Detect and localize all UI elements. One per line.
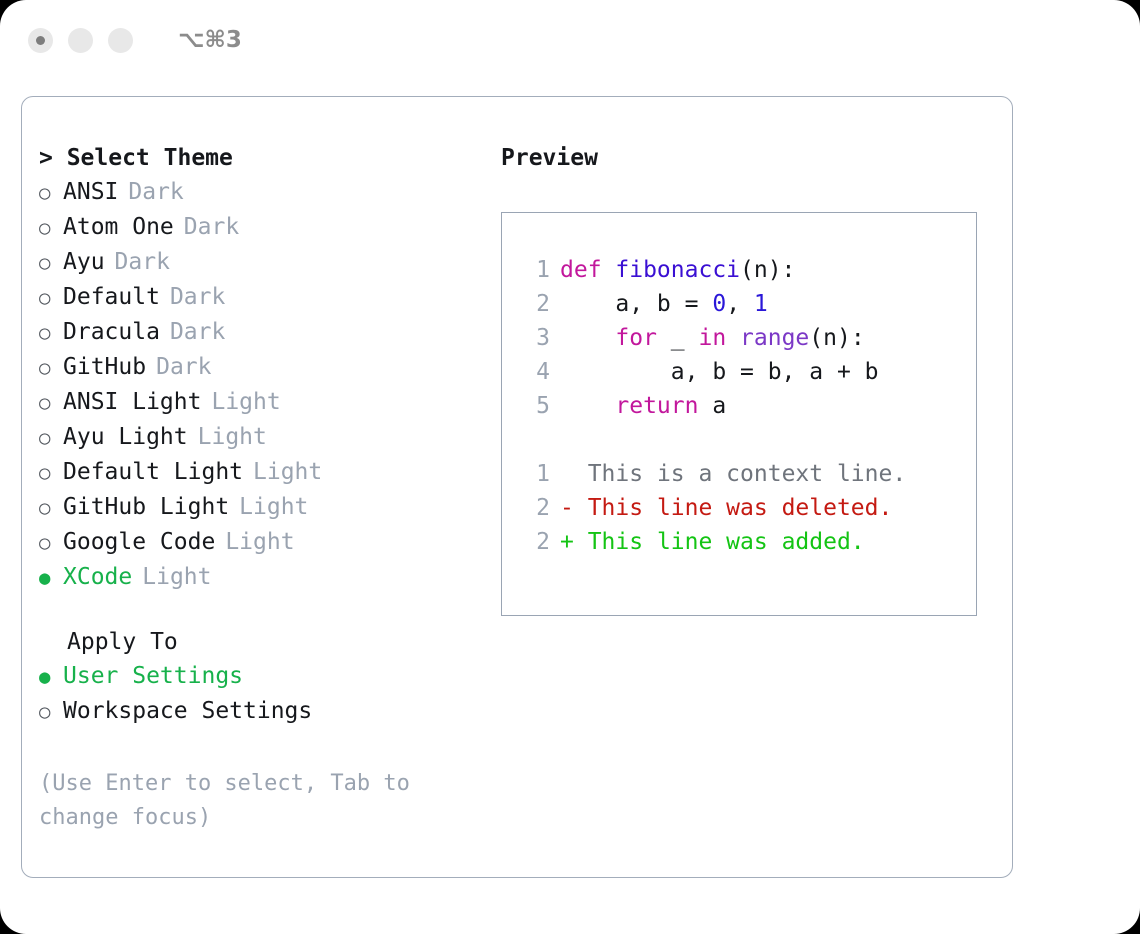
diff-text: This is a context line.: [588, 457, 907, 491]
line-number: 1: [520, 457, 550, 491]
theme-name: Atom One: [63, 210, 174, 244]
token-plain: (n):: [740, 257, 795, 283]
theme-option-ansi[interactable]: ○ANSIDark: [39, 175, 479, 210]
line-number: 4: [520, 355, 550, 389]
theme-name: GitHub Light: [63, 490, 229, 524]
theme-name: ANSI: [63, 175, 118, 209]
code-line: 3 for _ in range(n):: [520, 321, 976, 355]
code-line-content: return a: [560, 389, 726, 423]
radio-unselected-icon: ○: [39, 316, 63, 350]
code-line: 4 a, b = b, a + b: [520, 355, 976, 389]
code-line: 1def fibonacci(n):: [520, 253, 976, 287]
radio-unselected-icon: ○: [39, 281, 63, 315]
theme-name: Default: [63, 280, 160, 314]
window-dot-3-icon[interactable]: [108, 28, 133, 53]
diff-marker: -: [560, 491, 588, 525]
diff-line: 2- This line was deleted.: [520, 491, 976, 525]
radio-selected-icon: ●: [39, 561, 63, 595]
code-line-content: a, b = b, a + b: [560, 355, 879, 389]
radio-unselected-icon: ○: [39, 211, 63, 245]
diff-marker: [560, 457, 588, 491]
token-plain: [560, 325, 615, 351]
theme-name: Default Light: [63, 455, 243, 489]
line-number: 5: [520, 389, 550, 423]
theme-variant-tag: Light: [198, 420, 267, 454]
theme-variant-tag: Dark: [184, 210, 239, 244]
preview-box: 1def fibonacci(n):2 a, b = 0, 13 for _ i…: [501, 212, 977, 616]
diff-sample: 1 This is a context line.2- This line wa…: [502, 457, 976, 559]
theme-name: Ayu: [63, 245, 105, 279]
token-kw: for: [615, 325, 657, 351]
keyboard-hint-text: (Use Enter to select, Tab to change focu…: [39, 767, 439, 835]
theme-option-xcode[interactable]: ●XCodeLight: [39, 560, 479, 595]
keyboard-shortcut-label: ⌥⌘3: [178, 27, 242, 53]
theme-variant-tag: Dark: [115, 245, 170, 279]
app-window: ⌥⌘3 > Select Theme ○ANSIDark○Atom OneDar…: [0, 0, 1140, 934]
theme-option-github[interactable]: ○GitHubDark: [39, 350, 479, 385]
code-line-content: a, b = 0, 1: [560, 287, 768, 321]
theme-variant-tag: Light: [253, 455, 322, 489]
line-number: 2: [520, 287, 550, 321]
theme-variant-tag: Light: [239, 490, 308, 524]
code-line: 2 a, b = 0, 1: [520, 287, 976, 321]
theme-option-ayu-light[interactable]: ○Ayu LightLight: [39, 420, 479, 455]
line-number: 1: [520, 253, 550, 287]
radio-unselected-icon: ○: [39, 351, 63, 385]
theme-variant-tag: Dark: [128, 175, 183, 209]
theme-option-ansi-light[interactable]: ○ANSI LightLight: [39, 385, 479, 420]
theme-variant-tag: Dark: [156, 350, 211, 384]
diff-line: 1 This is a context line.: [520, 457, 976, 491]
theme-list: ○ANSIDark○Atom OneDark○AyuDark○DefaultDa…: [39, 175, 479, 595]
token-plain: [726, 325, 740, 351]
apply-to-label: User Settings: [63, 659, 243, 693]
theme-option-github-light[interactable]: ○GitHub LightLight: [39, 490, 479, 525]
token-plain: ,: [726, 291, 754, 317]
theme-name: Dracula: [63, 315, 160, 349]
apply-to-option-workspace-settings[interactable]: ○Workspace Settings: [39, 694, 479, 729]
radio-unselected-icon: ○: [39, 421, 63, 455]
radio-unselected-icon: ○: [39, 456, 63, 490]
preview-column: Preview 1def fibonacci(n):2 a, b = 0, 13…: [501, 141, 981, 616]
apply-to-option-user-settings[interactable]: ●User Settings: [39, 659, 479, 694]
token-kw: def: [560, 257, 615, 283]
diff-line: 2+ This line was added.: [520, 525, 976, 559]
theme-name: GitHub: [63, 350, 146, 384]
theme-name: Ayu Light: [63, 420, 188, 454]
token-num: 1: [754, 291, 768, 317]
titlebar: ⌥⌘3: [0, 0, 1140, 80]
diff-text: This line was added.: [588, 525, 865, 559]
token-plain: [560, 393, 615, 419]
token-builtin: range: [740, 325, 809, 351]
spacer: [39, 595, 479, 625]
radio-unselected-icon: ○: [39, 491, 63, 525]
preview-title: Preview: [501, 141, 981, 175]
diff-text: This line was deleted.: [588, 491, 893, 525]
select-theme-heading: > Select Theme: [39, 141, 479, 175]
theme-variant-tag: Dark: [170, 280, 225, 314]
theme-variant-tag: Dark: [170, 315, 225, 349]
apply-to-label: Workspace Settings: [63, 694, 312, 728]
theme-name: Google Code: [63, 525, 215, 559]
radio-unselected-icon: ○: [39, 526, 63, 560]
token-plain: a, b = b, a + b: [560, 359, 879, 385]
main-panel: > Select Theme ○ANSIDark○Atom OneDark○Ay…: [21, 96, 1013, 878]
radio-unselected-icon: ○: [39, 176, 63, 210]
code-line-content: for _ in range(n):: [560, 321, 865, 355]
theme-option-default-light[interactable]: ○Default LightLight: [39, 455, 479, 490]
code-line: 5 return a: [520, 389, 976, 423]
token-fn: fibonacci: [615, 257, 740, 283]
token-plain: a, b =: [560, 291, 712, 317]
theme-option-dracula[interactable]: ○DraculaDark: [39, 315, 479, 350]
radio-unselected-icon: ○: [39, 386, 63, 420]
radio-selected-icon: ●: [39, 660, 63, 694]
line-number: 2: [520, 491, 550, 525]
token-plain: a: [698, 393, 726, 419]
token-plain: (n):: [809, 325, 864, 351]
code-line-content: def fibonacci(n):: [560, 253, 795, 287]
window-dot-active-inner-icon: [36, 36, 45, 45]
theme-name: ANSI Light: [63, 385, 201, 419]
window-dot-active-icon[interactable]: [28, 28, 53, 53]
token-kw: in: [698, 325, 726, 351]
theme-variant-tag: Light: [211, 385, 280, 419]
code-sample: 1def fibonacci(n):2 a, b = 0, 13 for _ i…: [502, 253, 976, 423]
apply-to-heading: Apply To: [39, 625, 479, 659]
theme-option-default[interactable]: ○DefaultDark: [39, 280, 479, 315]
theme-name: XCode: [63, 560, 132, 594]
token-num: 0: [712, 291, 726, 317]
line-number: 3: [520, 321, 550, 355]
theme-variant-tag: Light: [142, 560, 211, 594]
radio-unselected-icon: ○: [39, 246, 63, 280]
token-kw: return: [615, 393, 698, 419]
token-plain: _: [657, 325, 699, 351]
spacer: [502, 423, 976, 457]
apply-to-list: ●User Settings○Workspace Settings: [39, 659, 479, 729]
theme-option-ayu[interactable]: ○AyuDark: [39, 245, 479, 280]
theme-picker-column: > Select Theme ○ANSIDark○Atom OneDark○Ay…: [39, 141, 479, 835]
theme-option-google-code[interactable]: ○Google CodeLight: [39, 525, 479, 560]
line-number: 2: [520, 525, 550, 559]
theme-variant-tag: Light: [225, 525, 294, 559]
radio-unselected-icon: ○: [39, 695, 63, 729]
window-dot-2-icon[interactable]: [68, 28, 93, 53]
diff-marker: +: [560, 525, 588, 559]
theme-option-atom-one[interactable]: ○Atom OneDark: [39, 210, 479, 245]
